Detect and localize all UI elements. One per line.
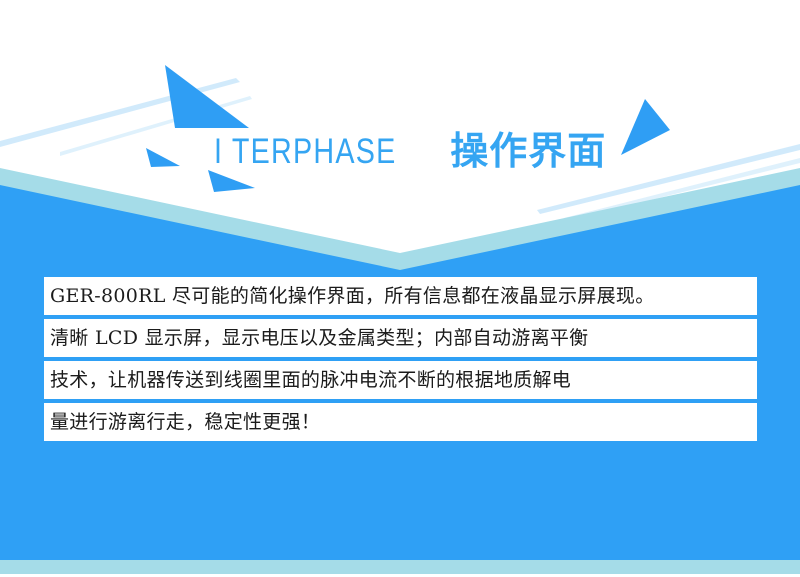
description-block: GER-800RL 尽可能的简化操作界面，所有信息都在液晶显示屏展现。 清晰 L… [44, 277, 757, 445]
description-line: 量进行游离行走，稳定性更强！ [44, 403, 757, 441]
description-line-text: 技术，让机器传送到线圈里面的脉冲电流不断的根据地质解电 [50, 371, 571, 390]
description-line-text: GER-800RL 尽可能的简化操作界面，所有信息都在液晶显示屏展现。 [50, 287, 655, 306]
banner-page: I TERPHASE 操作界面 GER-800RL 尽可能的简化操作界面，所有信… [0, 0, 800, 577]
description-line-text: 量进行游离行走，稳定性更强！ [50, 413, 320, 432]
description-line: 技术，让机器传送到线圈里面的脉冲电流不断的根据地质解电 [44, 361, 757, 399]
description-line: GER-800RL 尽可能的简化操作界面，所有信息都在液晶显示屏展现。 [44, 277, 757, 315]
description-line-text: 清晰 LCD 显示屏，显示电压以及金属类型；内部自动游离平衡 [50, 329, 588, 348]
description-line: 清晰 LCD 显示屏，显示电压以及金属类型；内部自动游离平衡 [44, 319, 757, 357]
footer-teal-stripe [0, 560, 800, 574]
